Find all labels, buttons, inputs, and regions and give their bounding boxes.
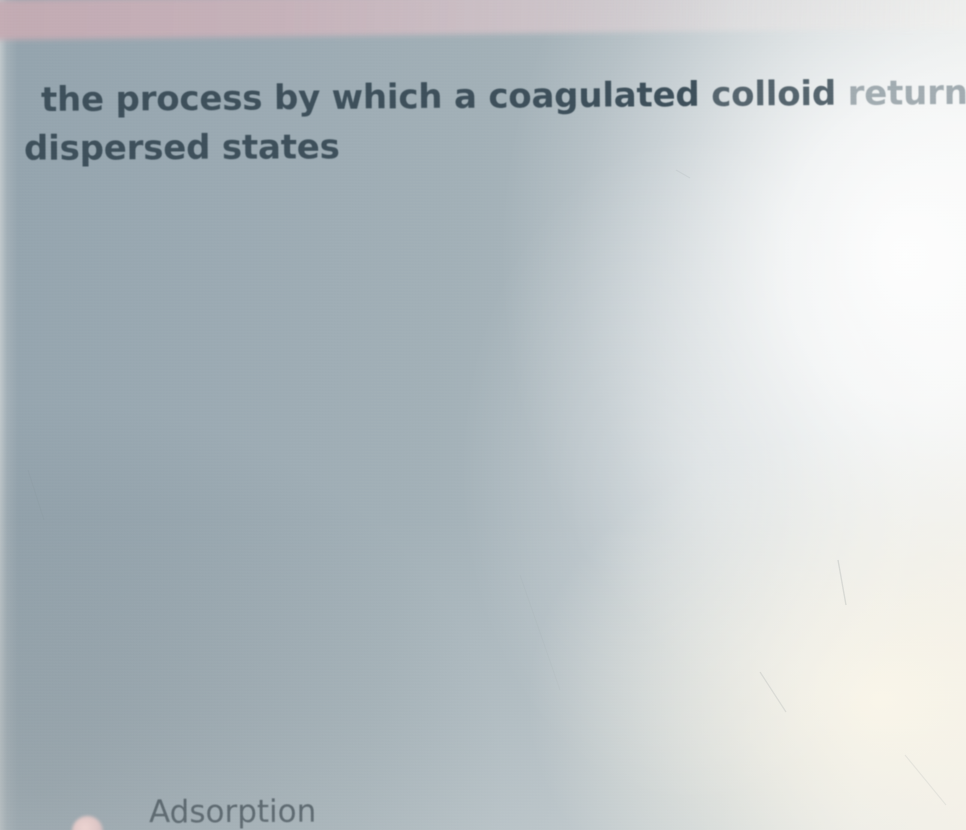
question-text-line-2: dispersed states	[24, 127, 340, 169]
question-text-line-1: the process by which a coagulated colloi…	[41, 72, 966, 120]
radio-unselected-icon[interactable]	[72, 816, 103, 830]
option-label-adsorption: Adsorption	[149, 794, 316, 830]
quiz-content: the process by which a coagulated colloi…	[0, 0, 966, 830]
question-fading-segment-b: returns	[836, 73, 966, 114]
photographed-quiz-screen: the process by which a coagulated colloi…	[0, 0, 966, 830]
question-strong-segment: the process by which a coagulated	[41, 75, 700, 120]
question-fading-segment-a: colloid	[699, 74, 836, 115]
